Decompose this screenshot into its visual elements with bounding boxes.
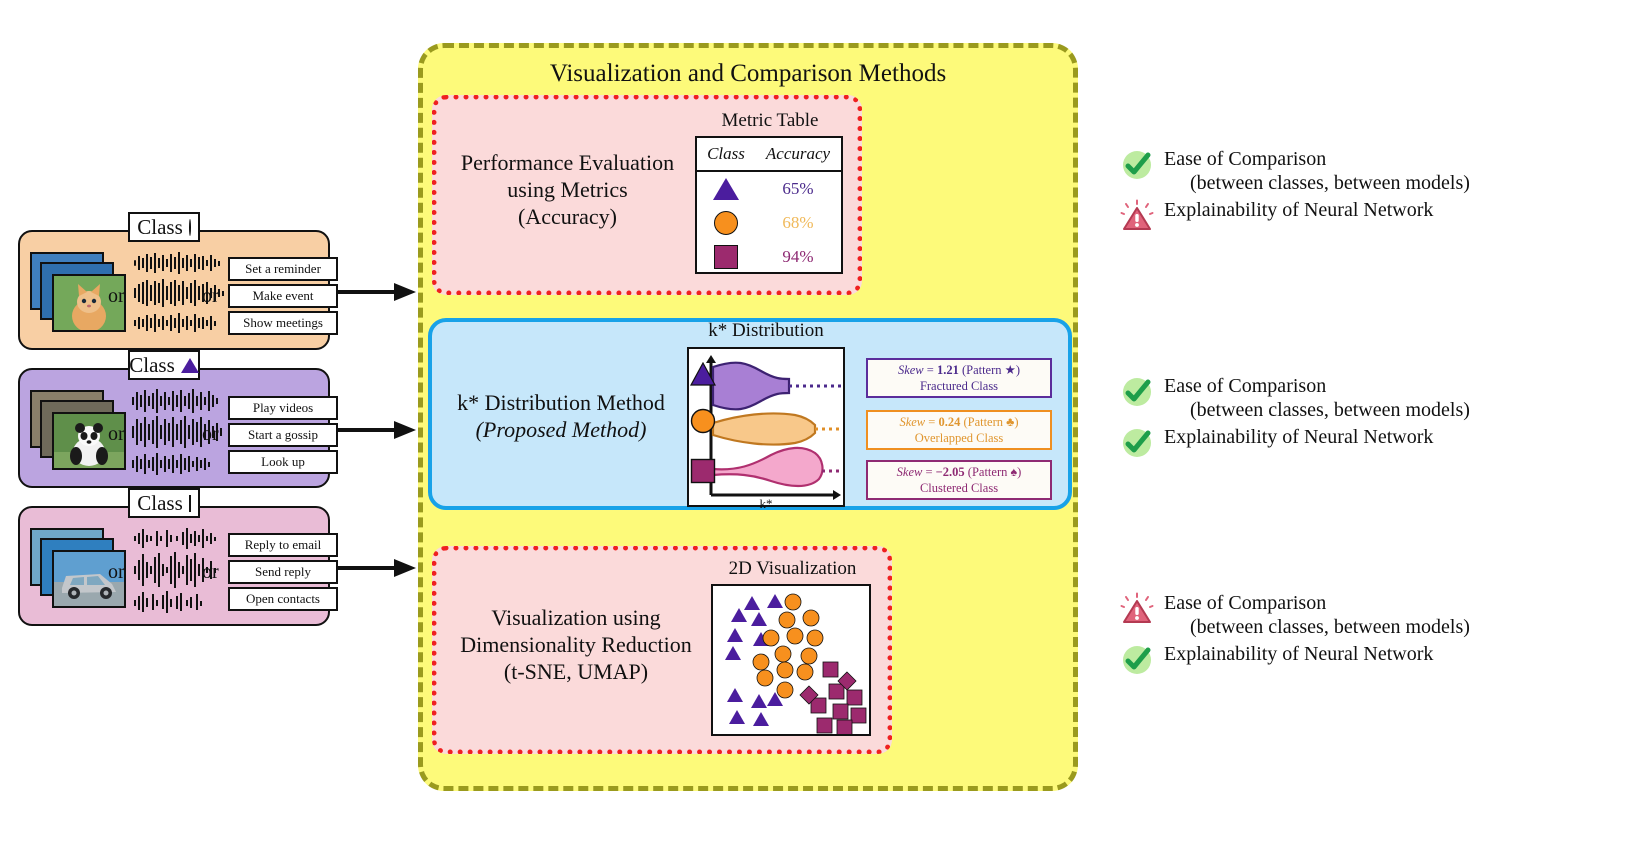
pattern-close: ): [1017, 465, 1021, 479]
or-label: or: [202, 285, 219, 308]
verdict-row: Ease of Comparison (between classes, bet…: [1120, 375, 1590, 422]
command-item[interactable]: Reply to email: [228, 533, 338, 557]
method-label-line: (Accuracy): [440, 204, 695, 231]
verdict-row: Ease of Comparison (between classes, bet…: [1120, 592, 1590, 639]
pattern-text: (Pattern: [962, 363, 1002, 377]
warning-icon: [1120, 592, 1154, 626]
container-title: Visualization and Comparison Methods: [418, 60, 1078, 88]
metric-table: Class Accuracy 65% 68% 94%: [695, 136, 843, 274]
method-label-tsne: Visualization using Dimensionality Reduc…: [442, 605, 710, 685]
cell-class-marker: [697, 245, 755, 269]
arrow-purple-to-container: [336, 418, 418, 442]
check-icon: [1120, 375, 1154, 409]
table-row: 68%: [697, 206, 841, 240]
verdict-row: Explainability of Neural Network: [1120, 426, 1590, 460]
verdict-title: Explainability of Neural Network: [1164, 199, 1433, 221]
skew-annotation-clustered: Skew = −2.05 (Pattern ♠) Clustered Class: [866, 460, 1052, 500]
command-item[interactable]: Play videos: [228, 396, 338, 420]
command-item[interactable]: Start a gossip: [228, 423, 338, 447]
verdict-title: Ease of Comparison: [1164, 375, 1326, 397]
arrow-orange-to-container: [336, 280, 418, 304]
tsne-plot-title: 2D Visualization: [710, 558, 875, 580]
skew-prefix: Skew: [899, 415, 925, 429]
table-row: 94%: [697, 240, 841, 274]
or-label: or: [202, 561, 219, 584]
method-label-line: using Metrics: [440, 177, 695, 204]
skew-line: Skew = −2.05 (Pattern ♠): [872, 465, 1046, 481]
method-label-line: k* Distribution Method: [436, 390, 686, 417]
skew-value: 1.21: [937, 363, 959, 377]
circle-marker-icon: [714, 211, 738, 235]
metric-table-title: Metric Table: [694, 110, 846, 132]
skew-line: Skew = 1.21 (Pattern ★): [872, 363, 1046, 379]
column-header-accuracy: Accuracy: [755, 144, 841, 164]
class-tag-magenta: Class: [128, 488, 200, 518]
command-item[interactable]: Look up: [228, 450, 338, 474]
class-tag-label: Class: [137, 493, 183, 514]
command-item[interactable]: Make event: [228, 284, 338, 308]
triangle-marker-icon: [181, 358, 199, 373]
verdict-group-dimensionality-reduction: Ease of Comparison (between classes, bet…: [1120, 592, 1590, 681]
command-item[interactable]: Send reply: [228, 560, 338, 584]
table-row: 65%: [697, 172, 841, 206]
table-header-row: Class Accuracy: [697, 138, 841, 172]
verdict-text: Explainability of Neural Network: [1164, 199, 1433, 223]
circle-marker-icon: [690, 408, 716, 439]
skew-annotation-fractured: Skew = 1.21 (Pattern ★) Fractured Class: [866, 358, 1052, 398]
command-item[interactable]: Open contacts: [228, 587, 338, 611]
verdict-row: Explainability of Neural Network: [1120, 643, 1590, 677]
triangle-marker-icon: [713, 178, 739, 200]
method-label-kstar: k* Distribution Method (Proposed Method): [436, 390, 686, 444]
command-list-purple: Play videos Start a gossip Look up: [228, 396, 338, 474]
verdict-subtitle: (between classes, between models): [1164, 616, 1470, 640]
verdict-text: Explainability of Neural Network: [1164, 643, 1433, 667]
verdict-row: Explainability of Neural Network: [1120, 199, 1590, 233]
verdict-text: Explainability of Neural Network: [1164, 426, 1433, 450]
or-label: or: [108, 423, 125, 446]
class-tag-purple: Class: [128, 350, 200, 380]
command-item[interactable]: Set a reminder: [228, 257, 338, 281]
method-label-line: Visualization using: [442, 605, 710, 632]
cell-accuracy: 68%: [755, 213, 841, 233]
pattern-close: ): [1016, 363, 1020, 377]
pattern-text: (Pattern: [968, 465, 1008, 479]
verdict-text: Ease of Comparison (between classes, bet…: [1164, 592, 1470, 639]
method-label-line: (t-SNE, UMAP): [442, 659, 710, 686]
cell-class-marker: [697, 211, 755, 235]
verdict-text: Ease of Comparison (between classes, bet…: [1164, 148, 1470, 195]
verdict-title: Explainability of Neural Network: [1164, 426, 1433, 448]
command-list-orange: Set a reminder Make event Show meetings: [228, 257, 338, 335]
check-icon: [1120, 643, 1154, 677]
kstar-plot-title: k* Distribution: [686, 320, 846, 342]
skew-annotation-overlapped: Skew = 0.24 (Pattern ♣) Overlapped Class: [866, 410, 1052, 450]
tsne-scatter-plot: [711, 584, 871, 736]
kstar-x-axis-label: k*: [687, 496, 845, 512]
square-marker-icon: [189, 495, 191, 512]
pattern-close: ): [1014, 415, 1018, 429]
skew-value: −2.05: [936, 465, 965, 479]
skew-prefix: Skew: [898, 363, 924, 377]
verdict-group-metric-table: Ease of Comparison (between classes, bet…: [1120, 148, 1590, 237]
square-marker-icon: [690, 458, 716, 489]
command-item[interactable]: Show meetings: [228, 311, 338, 335]
column-header-class: Class: [697, 144, 755, 164]
method-label-line: Dimensionality Reduction: [442, 632, 710, 659]
cell-class-marker: [697, 178, 755, 200]
class-tag-label: Class: [129, 355, 175, 376]
pattern-text: (Pattern: [963, 415, 1003, 429]
method-label-line: Performance Evaluation: [440, 150, 695, 177]
verdict-title: Ease of Comparison: [1164, 592, 1326, 614]
skew-line: Skew = 0.24 (Pattern ♣): [872, 415, 1046, 431]
verdict-title: Ease of Comparison: [1164, 148, 1326, 170]
cell-accuracy: 94%: [755, 247, 841, 267]
warning-icon: [1120, 199, 1154, 233]
verdict-group-kstar: Ease of Comparison (between classes, bet…: [1120, 375, 1590, 464]
check-icon: [1120, 148, 1154, 182]
or-label: or: [108, 561, 125, 584]
skew-value: 0.24: [938, 415, 960, 429]
method-label-metric-table: Performance Evaluation using Metrics (Ac…: [440, 150, 695, 230]
class-tag-orange: Class: [128, 212, 200, 242]
star-pattern-icon: ★: [1005, 363, 1016, 377]
circle-marker-icon: [189, 219, 191, 236]
class-name: Overlapped Class: [872, 431, 1046, 447]
verdict-subtitle: (between classes, between models): [1164, 172, 1470, 196]
method-label-line: (Proposed Method): [436, 417, 686, 444]
verdict-subtitle: (between classes, between models): [1164, 399, 1470, 423]
triangle-marker-icon: [690, 362, 716, 391]
class-tag-label: Class: [137, 217, 183, 238]
verdict-row: Ease of Comparison (between classes, bet…: [1120, 148, 1590, 195]
arrow-magenta-to-container: [336, 556, 418, 580]
verdict-text: Ease of Comparison (between classes, bet…: [1164, 375, 1470, 422]
command-list-magenta: Reply to email Send reply Open contacts: [228, 533, 338, 611]
or-label: or: [108, 285, 125, 308]
verdict-title: Explainability of Neural Network: [1164, 643, 1433, 665]
cell-accuracy: 65%: [755, 179, 841, 199]
class-name: Clustered Class: [872, 481, 1046, 497]
class-name: Fractured Class: [872, 379, 1046, 395]
scatter-svg: [713, 586, 869, 734]
square-marker-icon: [714, 245, 738, 269]
check-icon: [1120, 426, 1154, 460]
or-label: or: [202, 423, 219, 446]
skew-prefix: Skew: [897, 465, 923, 479]
